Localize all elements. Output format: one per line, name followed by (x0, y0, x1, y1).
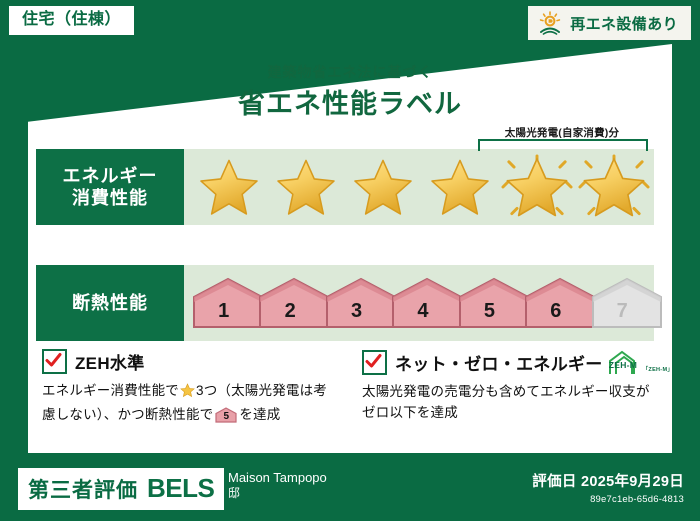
energy-label-line2: 消費性能 (72, 188, 148, 208)
owner-suffix: 邸 (228, 486, 240, 500)
energy-performance-label: 住宅（住棟） 再エネ設備あり 建築物省エネ法に基づく 省エネ性能ラ (0, 0, 700, 521)
checkmark-icon-zeh (42, 349, 67, 374)
insulation-level-value: 5 (484, 300, 495, 329)
netzero-title-text: ネット・ゼロ・エネルギー (395, 350, 603, 375)
criteria-zeh: ZEH水準 エネルギー消費性能で3つ（太陽光発電は考慮しない）、かつ断熱性能で5… (42, 349, 340, 444)
energy-label-line1: エネルギー (63, 166, 158, 186)
panel-content: 建築物省エネ法に基づく 省エネ性能ラベル エネルギー 消費性能 太陽光発電(自家… (28, 44, 672, 453)
insulation-level-1: 1 (192, 277, 255, 329)
solar-generation-note: 太陽光発電(自家消費)分 (474, 125, 650, 140)
insulation-level-track: 1234567 (192, 265, 654, 341)
insulation-level-value: 3 (351, 300, 362, 329)
inline-badge-value: 5 (215, 409, 237, 425)
evaluation-info: 評価日 2025年9月29日 89e7c1eb-65d6-4813 (532, 470, 684, 505)
checkmark-icon-netzero (362, 350, 387, 375)
page-title: 省エネ性能ラベル (28, 82, 672, 121)
zeh-title: ZEH水準 (75, 349, 145, 374)
svg-text:ZEH-M: ZEH-M (608, 360, 636, 370)
criteria-net-zero: ネット・ゼロ・エネルギー ZEH-M 「ZEH-M」 太陽光発電の売電分も含めて… (362, 349, 662, 444)
evaluation-id: 89e7c1eb-65d6-4813 (532, 494, 684, 505)
insulation-level-value: 2 (285, 300, 296, 329)
bels-certification-box: 第三者評価 BELS (18, 468, 224, 510)
zeh-m-logo: ZEH-M 「ZEH-M」 (606, 349, 674, 375)
insulation-level-5: 5 (458, 277, 521, 329)
criteria-section: ZEH水準 エネルギー消費性能で3つ（太陽光発電は考慮しない）、かつ断熱性能で5… (42, 349, 662, 444)
insulation-performance-row: 断熱性能 1234567 (36, 265, 654, 341)
insulation-level-3: 3 (325, 277, 388, 329)
star-3 (344, 149, 421, 225)
renewable-equipment-badge: 再エネ設備あり (528, 6, 691, 40)
insulation-row-label: 断熱性能 (36, 265, 184, 341)
owner-name-block: Maison Tampopo 邸 (228, 471, 468, 501)
renewable-badge-label: 再エネ設備あり (570, 13, 678, 34)
star-2 (267, 149, 344, 225)
sun-solar-icon (537, 11, 563, 35)
insulation-level-value: 7 (617, 300, 628, 329)
insulation-level-value: 4 (417, 300, 428, 329)
netzero-description: 太陽光発電の売電分も含めてエネルギー収支がゼロ以下を達成 (362, 382, 662, 424)
star-rating (190, 149, 654, 225)
evaluation-date-label: 評価日 (532, 474, 576, 490)
insulation-level-value: 6 (550, 300, 561, 329)
evaluation-date: 評価日 2025年9月29日 (532, 470, 684, 491)
insulation-level-2: 2 (258, 277, 321, 329)
zeh-check-head: ZEH水準 (42, 349, 340, 374)
star-1 (190, 149, 267, 225)
star-6 (575, 149, 652, 225)
label-subtitle: 建築物省エネ法に基づく (28, 62, 672, 82)
netzero-check-head: ネット・ゼロ・エネルギー ZEH-M 「ZEH-M」 (362, 349, 662, 375)
netzero-title: ネット・ゼロ・エネルギー ZEH-M 「ZEH-M」 (395, 349, 673, 375)
star-4 (421, 149, 498, 225)
star-icon-inline (180, 386, 195, 401)
evaluation-date-value: 2025年9月29日 (581, 474, 684, 490)
bels-jp-label: 第三者評価 (28, 474, 138, 504)
insulation-level-6: 6 (524, 277, 587, 329)
zeh-desc-part1: エネルギー消費性能で (42, 383, 179, 398)
insulation-level-4: 4 (391, 277, 454, 329)
energy-performance-row: エネルギー 消費性能 太陽光発電(自家消費)分 (36, 149, 654, 225)
insulation-level-value: 1 (218, 300, 229, 329)
insulation-level-area: 1234567 (184, 265, 654, 341)
zeh-description: エネルギー消費性能で3つ（太陽光発電は考慮しない）、かつ断熱性能で5を達成 (42, 381, 340, 426)
energy-row-label: エネルギー 消費性能 (36, 149, 184, 225)
star-5 (498, 149, 575, 225)
zeh-desc-part3: を達成 (239, 407, 280, 422)
energy-star-area: 太陽光発電(自家消費)分 (184, 149, 654, 225)
building-type-tag: 住宅（住棟） (9, 6, 134, 35)
zeh-m-caption: 「ZEH-M」 (643, 365, 674, 375)
bels-en-label: BELS (147, 473, 214, 504)
footer-bar: 第三者評価 BELS Maison Tampopo 邸 評価日 2025年9月2… (0, 459, 700, 521)
owner-name: Maison Tampopo (228, 470, 327, 485)
insulation-badge-inline: 5 (215, 407, 237, 423)
insulation-level-7: 7 (591, 277, 654, 329)
